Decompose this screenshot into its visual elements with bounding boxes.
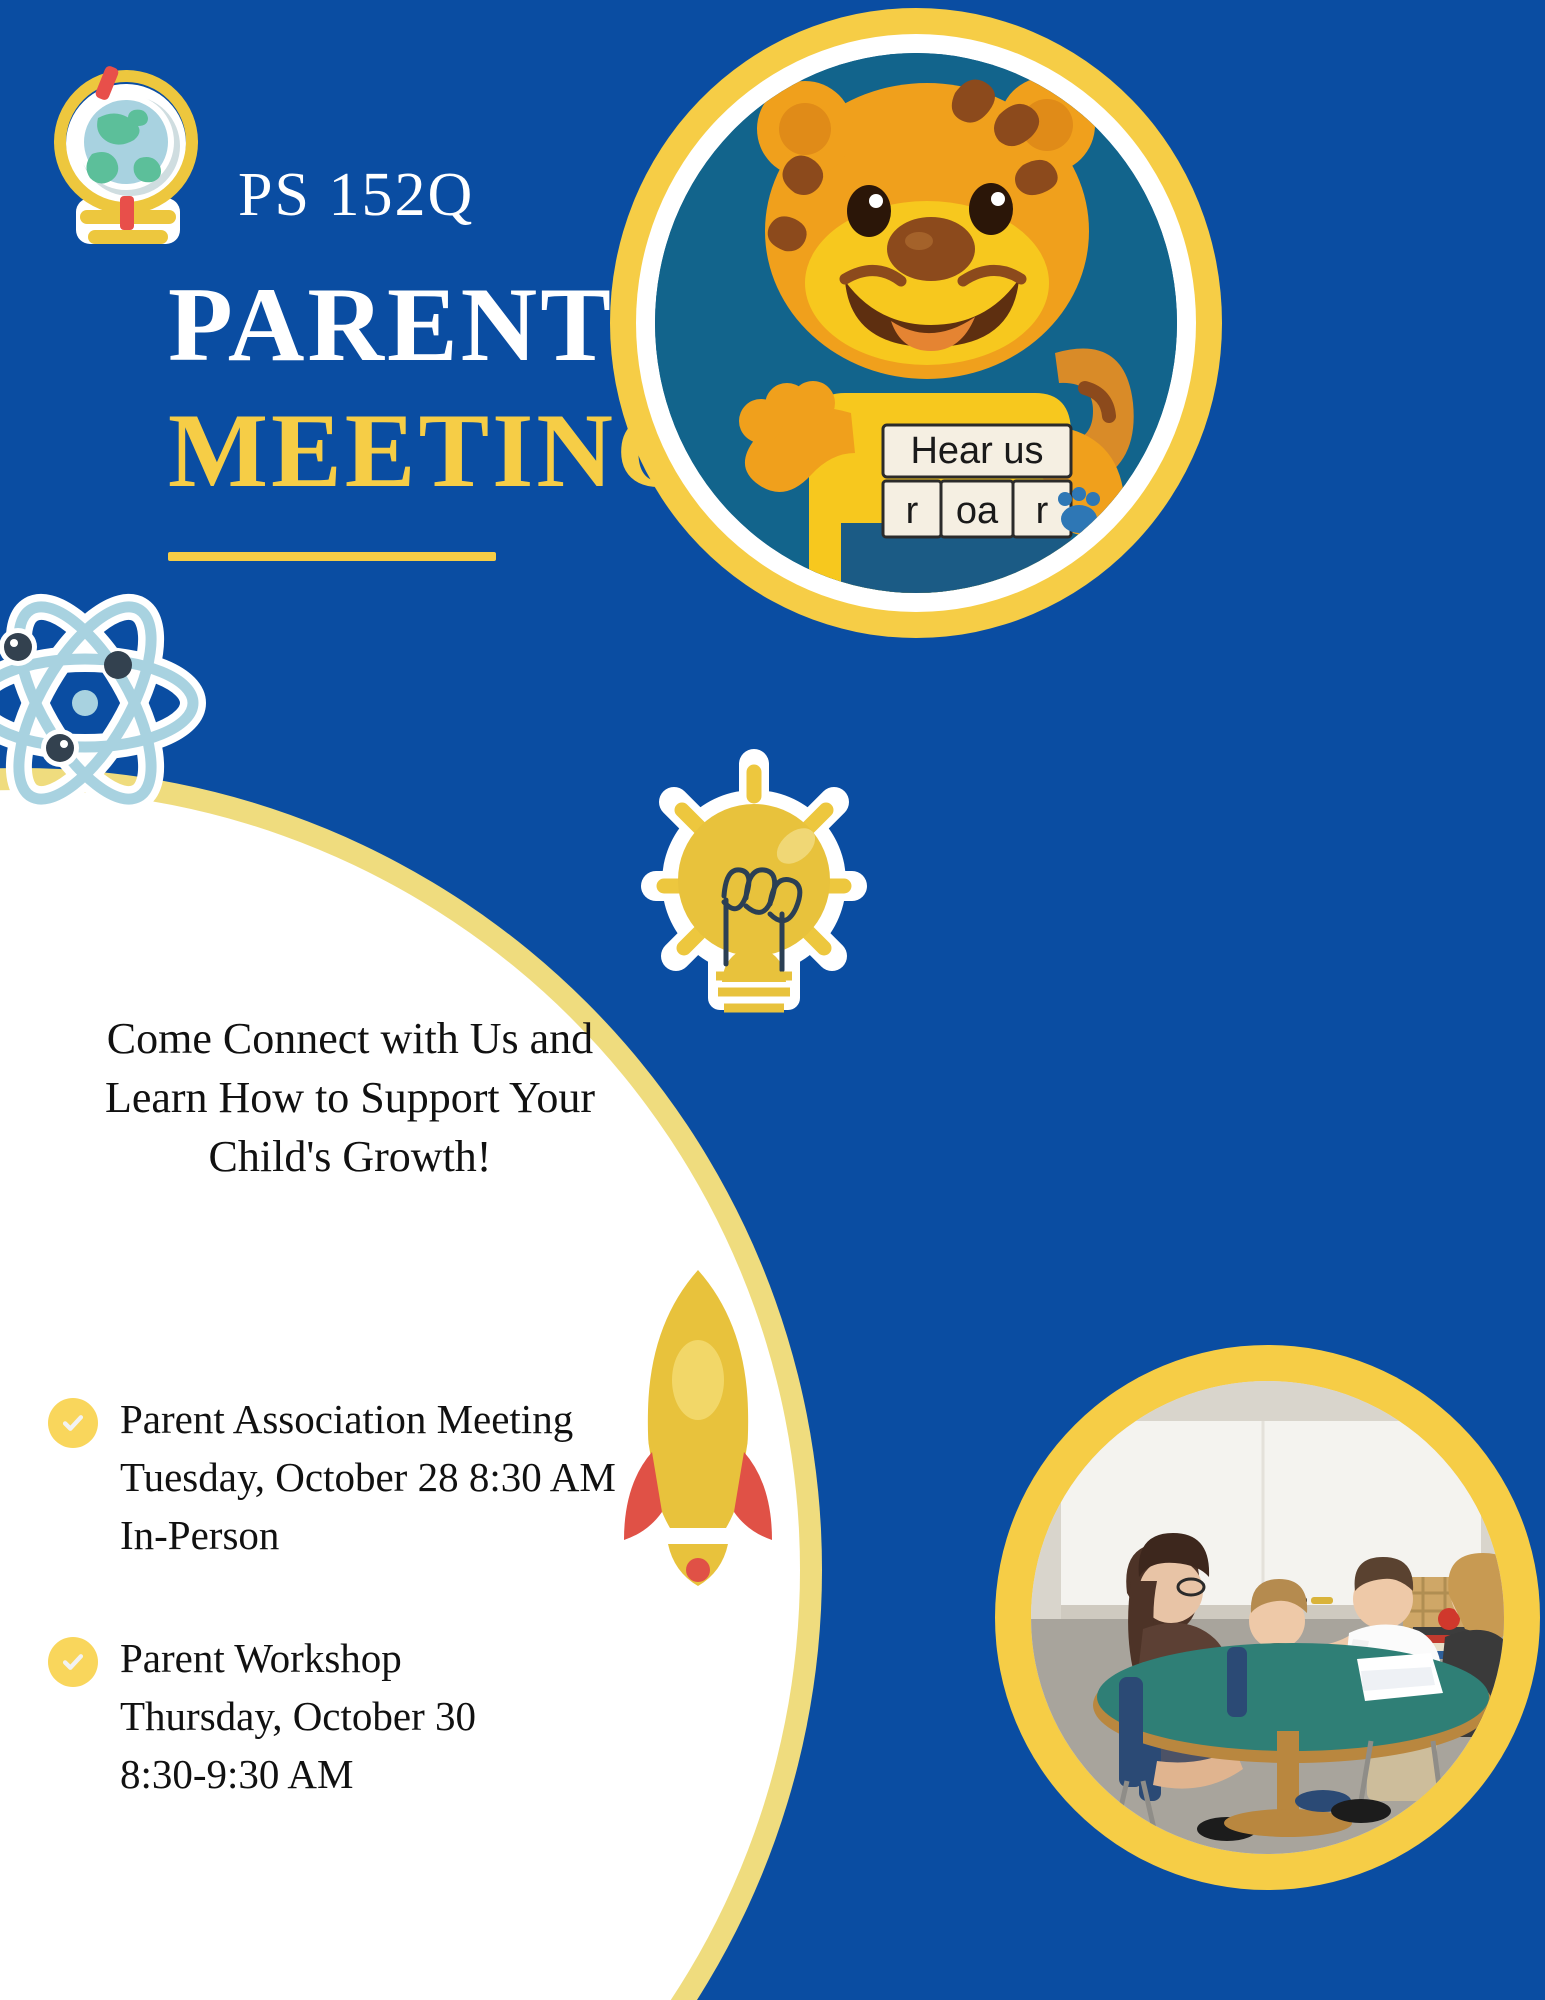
list-item: Parent Workshop Thursday, October 30 8:3… bbox=[48, 1629, 708, 1804]
event-location: In-Person bbox=[120, 1512, 279, 1558]
atom-icon bbox=[0, 574, 214, 832]
event-datetime: Tuesday, October 28 8:30 AM bbox=[120, 1454, 616, 1500]
svg-text:oa: oa bbox=[956, 490, 999, 532]
list-item-text: Parent Association Meeting Tuesday, Octo… bbox=[120, 1390, 616, 1565]
lightbulb-icon bbox=[630, 748, 878, 1018]
tiger-mascot-photo: Hear us r oa r bbox=[610, 8, 1222, 638]
svg-text:r: r bbox=[1036, 490, 1049, 532]
intro-text: Come Connect with Us and Learn How to Su… bbox=[100, 1010, 600, 1187]
event-title: Parent Association Meeting bbox=[120, 1396, 573, 1442]
school-name: PS 152Q bbox=[238, 160, 474, 231]
list-item-text: Parent Workshop Thursday, October 30 8:3… bbox=[120, 1629, 476, 1804]
meeting-photo-inner bbox=[1031, 1381, 1504, 1854]
title-underline-rule bbox=[168, 552, 496, 561]
event-time: 8:30-9:30 AM bbox=[120, 1751, 354, 1797]
check-circle-icon bbox=[48, 1398, 98, 1448]
event-title: Parent Workshop bbox=[120, 1635, 402, 1681]
svg-text:r: r bbox=[906, 490, 919, 532]
check-circle-icon bbox=[48, 1637, 98, 1687]
tiger-photo-inner: Hear us r oa r bbox=[655, 53, 1177, 593]
event-checklist: Parent Association Meeting Tuesday, Octo… bbox=[48, 1390, 708, 1867]
page-title-line1: PARENT bbox=[168, 272, 614, 378]
flyer-poster: PS 152Q PARENT MEETING bbox=[0, 0, 1545, 2000]
globe-icon bbox=[36, 58, 216, 258]
event-datetime: Thursday, October 30 bbox=[120, 1693, 476, 1739]
svg-text:Hear us: Hear us bbox=[910, 430, 1043, 472]
list-item: Parent Association Meeting Tuesday, Octo… bbox=[48, 1390, 708, 1565]
parent-teacher-meeting-photo bbox=[995, 1345, 1540, 1890]
